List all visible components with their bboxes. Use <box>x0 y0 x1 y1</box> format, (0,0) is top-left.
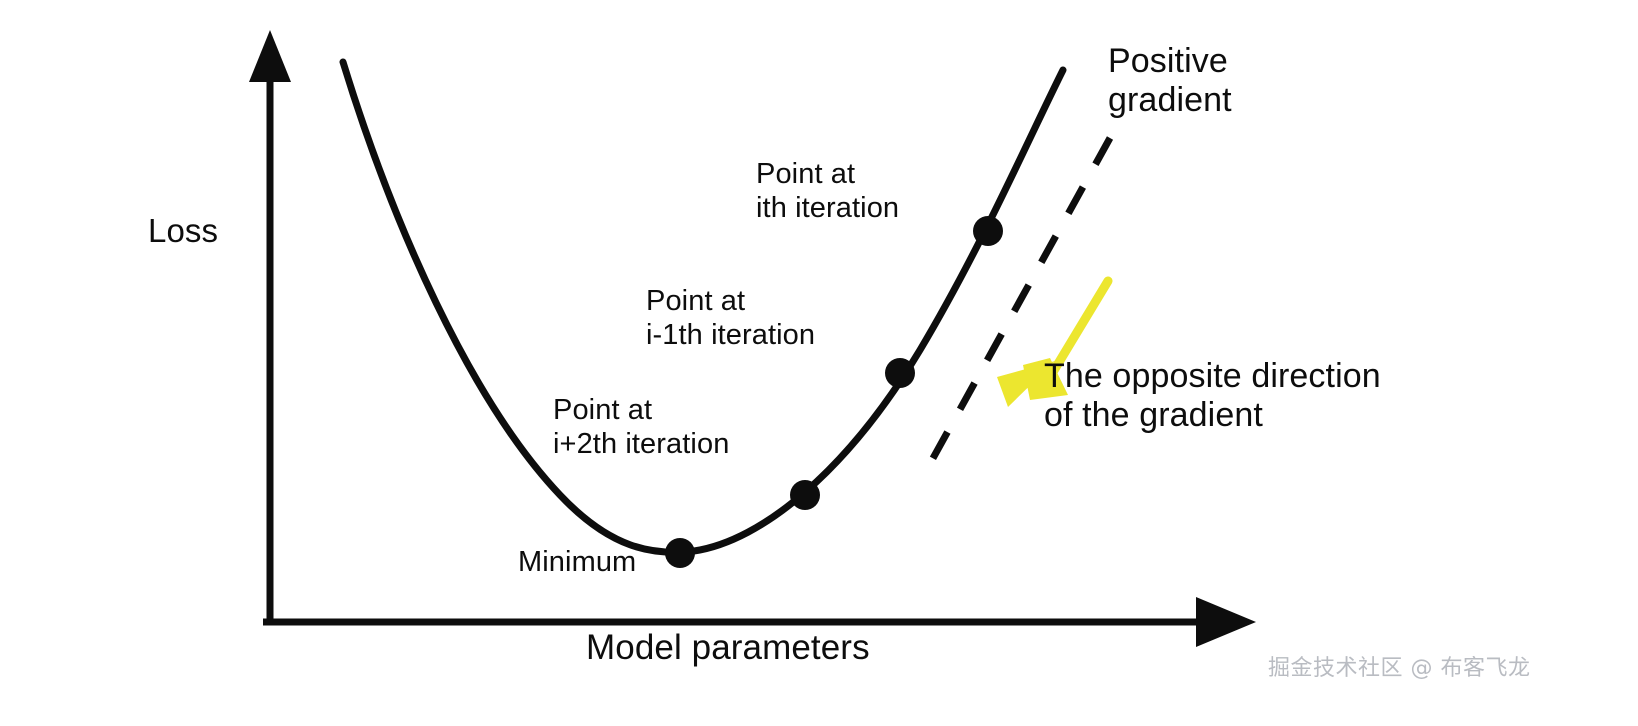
figure-canvas: Loss Model parameters Point at ith itera… <box>0 0 1638 726</box>
annotation-point-i-plus-2th: Point at i+2th iteration <box>553 394 729 461</box>
annotation-point-i-minus-1th: Point at i-1th iteration <box>646 285 815 352</box>
marker-point-ith <box>973 216 1003 246</box>
gradient-descent-diagram <box>0 0 1638 726</box>
watermark: 掘金技术社区 @ 布客飞龙 <box>1268 650 1531 682</box>
marker-point-minimum <box>665 538 695 568</box>
y-axis-label: Loss <box>148 212 218 250</box>
marker-point-i-minus-1th <box>885 358 915 388</box>
y-axis <box>249 30 291 622</box>
annotation-opposite-direction: The opposite direction of the gradient <box>1044 357 1381 436</box>
annotation-minimum: Minimum <box>518 546 636 580</box>
annotation-point-ith: Point at ith iteration <box>756 158 899 225</box>
y-axis-arrowhead-icon <box>249 30 291 82</box>
x-axis-arrowhead-icon <box>1196 597 1256 647</box>
x-axis-label: Model parameters <box>586 628 870 669</box>
marker-point-i-plus-2th <box>790 480 820 510</box>
annotation-positive-gradient: Positive gradient <box>1108 42 1232 121</box>
